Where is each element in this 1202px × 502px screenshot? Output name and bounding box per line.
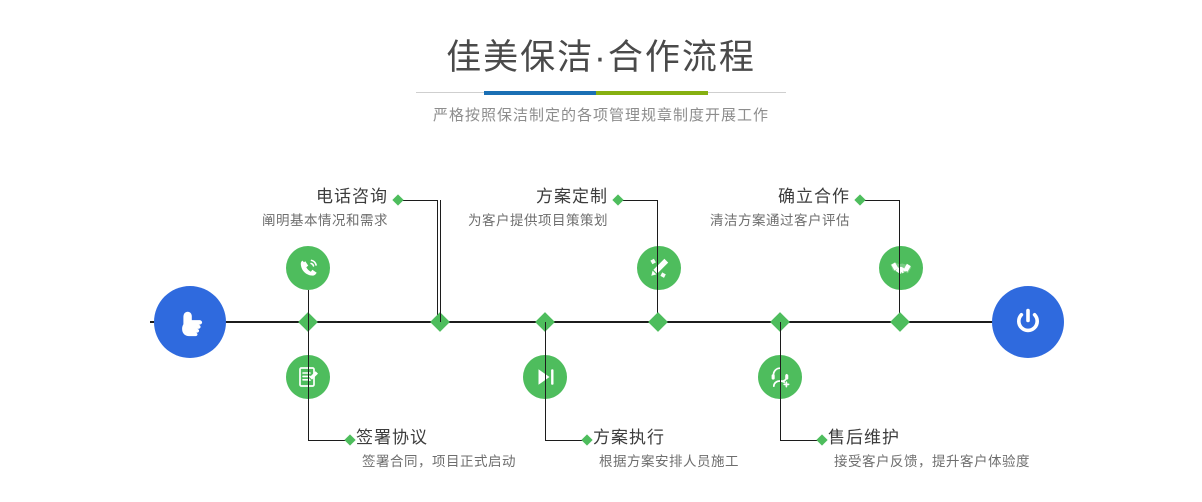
phone-call-icon xyxy=(295,255,321,281)
step-label-3: 方案定制 为客户提供项目策策划 xyxy=(345,186,608,231)
step-label-2: 签署协议 签署合同，项目正式启动 xyxy=(356,427,516,472)
step-desc-4: 根据方案安排人员施工 xyxy=(599,452,739,472)
timeline-start-endpoint xyxy=(154,286,226,358)
step-badge-3 xyxy=(637,246,681,290)
step-title-5: 确立合作 xyxy=(590,186,850,208)
step-badge-1 xyxy=(286,246,330,290)
label-tip-2 xyxy=(344,434,355,445)
step-label-4: 方案执行 根据方案安排人员施工 xyxy=(593,427,739,472)
process-timeline: 电话咨询 阐明基本情况和需求 签署协议 签署合同，项目正式启动 xyxy=(0,0,1202,502)
step-title-4: 方案执行 xyxy=(593,427,739,449)
step-desc-5: 清洁方案通过客户评估 xyxy=(590,211,850,231)
step-title-2: 签署协议 xyxy=(356,427,516,449)
step-label-6: 售后维护 接受客户反馈，提升客户体验度 xyxy=(828,427,1030,472)
pencil-ruler-icon xyxy=(646,255,672,281)
label-stem-2 xyxy=(308,322,309,440)
step-desc-3: 为客户提供项目策策划 xyxy=(345,211,608,231)
pointing-hand-icon xyxy=(171,303,209,341)
label-stem-6 xyxy=(780,322,781,440)
label-tip-6 xyxy=(816,434,827,445)
label-tip-5 xyxy=(854,194,865,205)
label-tip-4 xyxy=(581,434,592,445)
timeline-node-6 xyxy=(890,312,910,332)
connector-stem-1 xyxy=(308,290,309,322)
handshake-icon xyxy=(888,255,914,281)
step-desc-2: 签署合同，项目正式启动 xyxy=(362,452,516,472)
step-label-5: 确立合作 清洁方案通过客户评估 xyxy=(590,186,850,231)
label-stem-4 xyxy=(545,322,546,440)
step-badge-5 xyxy=(879,246,923,290)
step-title-3: 方案定制 xyxy=(345,186,608,208)
step-title-6: 售后维护 xyxy=(828,427,1030,449)
timeline-node-4 xyxy=(648,312,668,332)
timeline-axis xyxy=(150,321,1052,323)
timeline-end-endpoint xyxy=(992,286,1064,358)
label-elbow-5 xyxy=(860,200,900,201)
step-desc-6: 接受客户反馈，提升客户体验度 xyxy=(834,452,1030,472)
label-stem-5 xyxy=(899,200,900,322)
flow-infographic-page: 佳美保洁·合作流程 严格按照保洁制定的各项管理规章制度开展工作 xyxy=(0,0,1202,502)
power-button-icon xyxy=(1009,303,1047,341)
